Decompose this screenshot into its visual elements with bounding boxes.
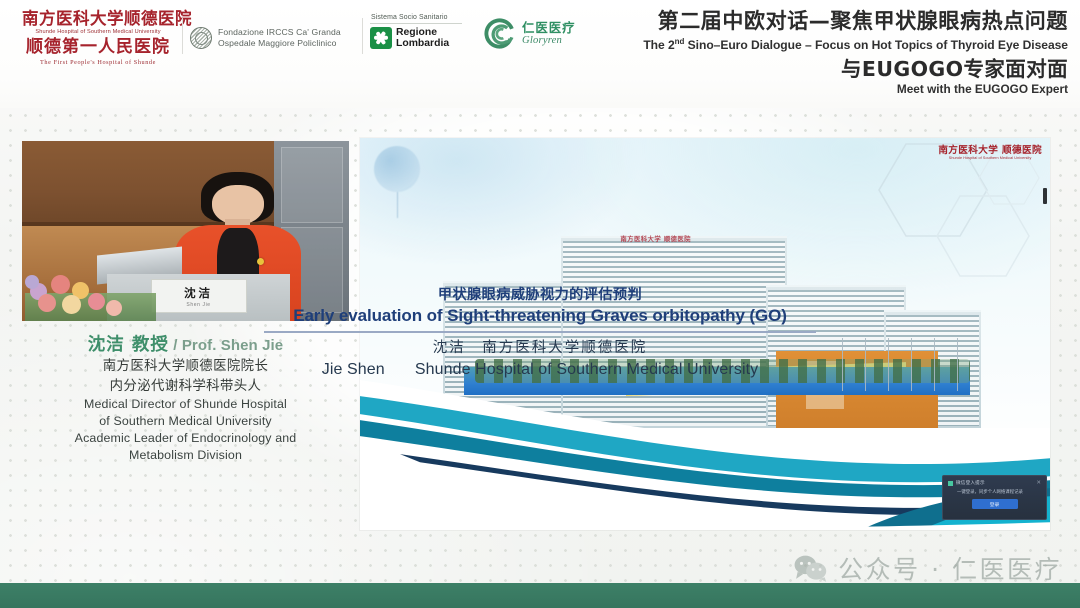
speaker-title-en-1: Medical Director of Shunde Hospital [16, 396, 355, 413]
slide-corner-logo: 南方医科大学 顺德医院 Shunde Hospital of Southern … [938, 145, 1042, 160]
logo-fondazione-text: Fondazione IRCCS Ca' Granda Ospedale Mag… [218, 27, 341, 48]
event-title-en-post: Sino–Euro Dialogue – Focus on Hot Topics… [684, 38, 1068, 52]
popup-login-button[interactable]: 登录 [972, 499, 1018, 509]
slide-corner-logo-cn: 南方医科大学 顺德医院 [938, 145, 1042, 156]
speaker-title-en-3: Academic Leader of Endocrinology and [16, 430, 355, 447]
slide-title-underline [264, 331, 816, 333]
logo-shunde-cn-line2: 顺德第一人民医院 [22, 37, 174, 58]
footer-bar [0, 583, 1080, 608]
logo-fondazione-irccs: Fondazione IRCCS Ca' Granda Ospedale Mag… [190, 27, 341, 49]
popup-body-text: 一键登录，同步个人网络课程记录 [957, 489, 1041, 495]
logo-fondazione-line2: Ospedale Maggiore Policlinico [218, 38, 337, 48]
event-title-block-2: 与EUGOGO专家面对面 Meet with the EUGOGO Expert [841, 57, 1068, 97]
wechat-login-popup[interactable]: 微信登入提示 ✕ 一键登录，同步个人网络课程记录 登录 [942, 475, 1047, 520]
logo-shunde-en-line2: The First People's Hospital of Shunde [22, 58, 174, 67]
slide-title-en: Early evaluation of Sight-threatening Gr… [0, 305, 1080, 327]
logo-regione-system-label: Sistema Socio Sanitario [371, 14, 462, 21]
logo-shunde-hospital: 南方医科大学顺德医院 Shunde Hospital of Southern M… [22, 9, 174, 67]
lombardy-rose-icon [370, 27, 392, 49]
presentation-slide[interactable]: 南方医科大学 顺德医院 Shunde Hospital of Southern … [360, 138, 1050, 530]
sponsor-logo-strip: 南方医科大学顺德医院 Shunde Hospital of Southern M… [0, 0, 610, 108]
speaker-title-en-4: Metabolism Division [16, 447, 355, 464]
logo-gloryren: 仁医医疗 Gloryren [484, 18, 576, 49]
slide-byline-en-org: Shunde Hospital of Southern Medical Univ… [415, 361, 758, 378]
event-title-en-line1: The 2nd Sino–Euro Dialogue – Focus on Ho… [643, 34, 1068, 53]
channel-watermark: 公众号 · 仁医医疗 [793, 550, 1062, 586]
slide-corner-logo-en: Shunde Hospital of Southern Medical Univ… [938, 156, 1042, 160]
logo-regione-lombardia: Sistema Socio Sanitario Regione Lombardi… [370, 14, 462, 49]
status-dot-icon [948, 481, 953, 486]
channel-watermark-text: 公众号 · 仁医医疗 [838, 550, 1062, 586]
popup-title: 微信登入提示 [956, 480, 985, 486]
scrollbar-handle[interactable] [1043, 188, 1047, 204]
slide-title: 甲状腺眼病威胁视力的评估预判 Early evaluation of Sight… [0, 286, 1080, 333]
speaker-title-en-2: of Southern Medical University [16, 413, 355, 430]
event-title-cn-line1: 第二届中欧对话—聚焦甲状腺眼病热点问题 [643, 9, 1068, 34]
institutional-seal-icon [190, 27, 212, 49]
logo-fondazione-line1: Fondazione IRCCS Ca' Granda [218, 27, 341, 37]
logo-shunde-en-line1: Shunde Hospital of Southern Medical Univ… [22, 28, 174, 36]
logo-regione-name-line2: Lombardia [396, 38, 449, 49]
event-title-en-sup: nd [675, 37, 685, 46]
logo-gloryren-en: Gloryren [522, 35, 576, 47]
wechat-icon [793, 554, 827, 582]
event-title-block-1: 第二届中欧对话—聚焦甲状腺眼病热点问题 The 2nd Sino–Euro Di… [643, 9, 1068, 53]
close-icon[interactable]: ✕ [1036, 481, 1041, 486]
event-title-cn-line2: 与EUGOGO专家面对面 [841, 57, 1068, 82]
event-title-en-pre: The 2 [643, 38, 674, 52]
event-title-en-line2: Meet with the EUGOGO Expert [841, 82, 1068, 97]
slide-title-cn: 甲状腺眼病威胁视力的评估预判 [0, 286, 1080, 305]
logo-shunde-cn-line1: 南方医科大学顺德医院 [22, 9, 174, 28]
slide-byline-en: Jie ShenShunde Hospital of Southern Medi… [0, 359, 1080, 381]
slide-byline: 沈洁 南方医科大学顺德医院 Jie ShenShunde Hospital of… [0, 338, 1080, 381]
logo-divider-2 [362, 18, 363, 54]
building-facade-logo: 南方医科大学 顺德医院 [620, 234, 691, 243]
logo-regione-rule [370, 23, 462, 24]
logo-regione-name-line1: Regione [396, 27, 449, 38]
balloon-decoration [374, 146, 420, 192]
slide-byline-en-name: Jie Shen [322, 361, 385, 378]
slide-byline-cn: 沈洁 南方医科大学顺德医院 [0, 338, 1080, 359]
logo-divider-1 [182, 18, 183, 54]
logo-gloryren-cn: 仁医医疗 [522, 21, 576, 35]
event-header: 南方医科大学顺德医院 Shunde Hospital of Southern M… [0, 0, 1080, 108]
gloryren-swirl-icon [484, 18, 515, 49]
